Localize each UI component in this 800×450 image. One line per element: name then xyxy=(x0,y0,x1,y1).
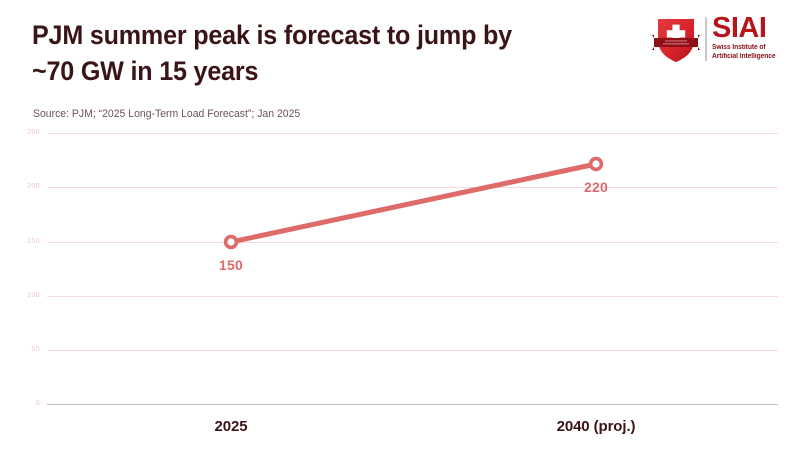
xtick-label-2025: 2025 xyxy=(131,418,331,435)
series-line xyxy=(231,164,596,242)
data-point-2025 xyxy=(226,237,237,248)
data-label-2040: 220 xyxy=(556,179,636,195)
line-chart: 250 200 150 100 50 0 150 220 2025 2040 (… xyxy=(0,0,800,450)
data-label-2025: 150 xyxy=(191,257,271,273)
xtick-label-2040: 2040 (proj.) xyxy=(496,418,696,435)
data-point-2040 xyxy=(591,159,602,170)
series-plot xyxy=(0,0,800,450)
